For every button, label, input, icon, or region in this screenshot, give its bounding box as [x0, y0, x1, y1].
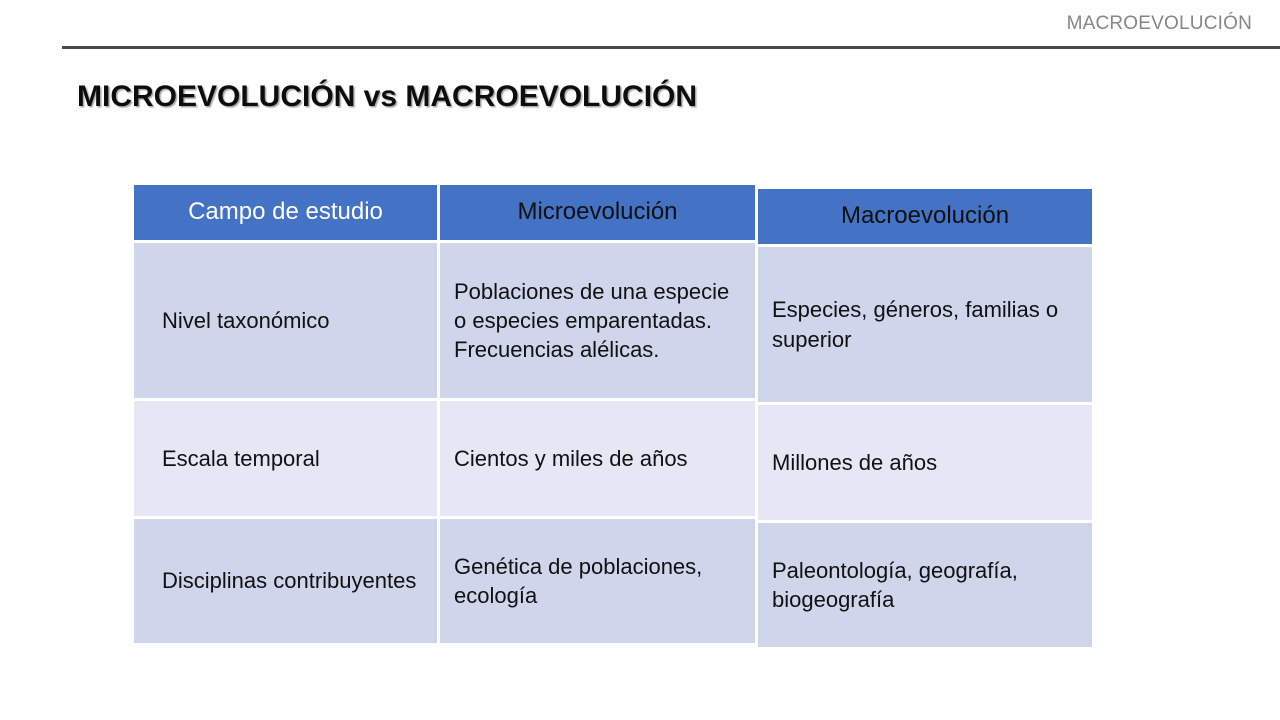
page-title: MICROEVOLUCIÓN vs MACROEVOLUCIÓN — [77, 80, 697, 114]
slide-header: MACROEVOLUCIÓN — [0, 0, 1280, 48]
table-row: Disciplinas contribuyentes — [134, 516, 437, 643]
table-cell-value: Millones de años — [772, 448, 937, 477]
table-header-cell-campo-de-estudio: Campo de estudio — [134, 185, 437, 240]
table-cell-value: Especies, géneros, familias o superior — [772, 295, 1078, 353]
table-cell-value: Nivel taxonómico — [162, 306, 330, 335]
slide-header-label: MACROEVOLUCIÓN — [1067, 13, 1252, 35]
table-cell-value: Disciplinas contribuyentes — [162, 566, 416, 595]
comparison-table: Campo de estudio Nivel taxonómico Escala… — [134, 185, 1092, 650]
table-row: Especies, géneros, familias o superior — [758, 244, 1092, 402]
table-column-macroevolucion: Macroevolución Especies, géneros, famili… — [758, 189, 1092, 647]
table-row: Cientos y miles de años — [440, 398, 755, 516]
table-column-microevolucion: Microevolución Poblaciones de una especi… — [440, 185, 755, 643]
table-row: Genética de poblaciones, ecología — [440, 516, 755, 643]
table-header-cell-microevolucion: Microevolución — [440, 185, 755, 240]
table-header-label: Macroevolución — [841, 203, 1009, 229]
table-cell-value: Genética de poblaciones, ecología — [454, 552, 741, 610]
table-row: Escala temporal — [134, 398, 437, 516]
header-divider-rule — [62, 46, 1280, 49]
table-header-cell-macroevolucion: Macroevolución — [758, 189, 1092, 244]
table-cell-value: Poblaciones de una especie o especies em… — [454, 277, 741, 364]
table-header-label: Campo de estudio — [188, 199, 383, 225]
table-column-campo-de-estudio: Campo de estudio Nivel taxonómico Escala… — [134, 185, 437, 643]
table-row: Millones de años — [758, 402, 1092, 520]
table-row: Paleontología, geografía, biogeografía — [758, 520, 1092, 647]
table-cell-value: Cientos y miles de años — [454, 444, 688, 473]
table-header-label: Microevolución — [517, 199, 677, 225]
table-row: Poblaciones de una especie o especies em… — [440, 240, 755, 398]
table-cell-value: Escala temporal — [162, 444, 320, 473]
table-row: Nivel taxonómico — [134, 240, 437, 398]
table-cell-value: Paleontología, geografía, biogeografía — [772, 556, 1078, 614]
